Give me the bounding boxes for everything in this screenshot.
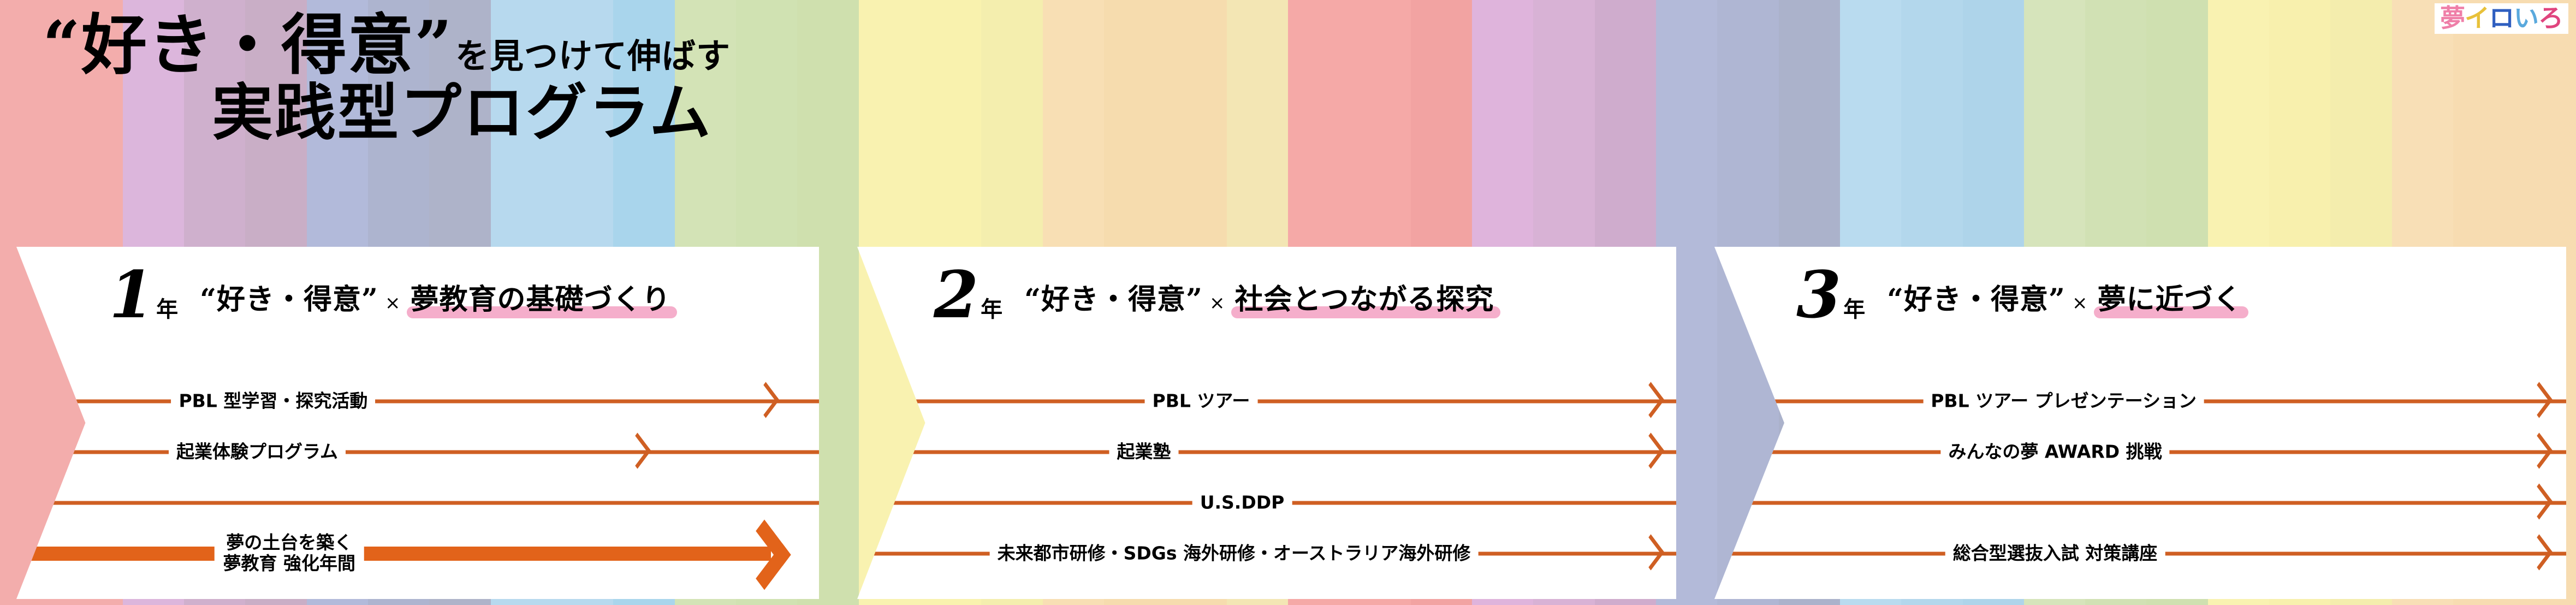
year-number: 1 [109,265,154,325]
program-label: 夢の土台を築く夢教育 強化年間 [215,531,365,576]
theme-highlight: 夢教育の基礎づくり [407,276,674,317]
program-label-line1: みんなの夢 AWARD 挑戦 [1948,441,2162,462]
timeline-track [857,399,1676,403]
theme-highlight: 社会とつながる探究 [1231,276,1497,317]
theme-quoted-phrase: “好き・得意” [200,276,378,317]
theme-quoted-phrase: “好き・得意” [1024,276,1203,317]
headline-suffix: を見つけて伸ばす [453,39,731,79]
program-row: U.S.DDP [857,477,1676,528]
year-panel-3: 3年“好き・得意”×夢に近づくPBL ツアー プレゼンテーションみんなの夢 AW… [1714,247,2566,599]
program-label: PBL 型学習・探究活動 [171,390,375,412]
program-label: 未来都市研修・SDGs 海外研修・オーストラリア海外研修 [990,543,1479,564]
infographic-root: 夢イロいろ “好き・得意” を見つけて伸ばす 実践型プログラム 1年“好き・得意… [0,0,2576,605]
program-label: PBL ツアー [1145,390,1258,412]
program-row: PBL ツアー プレゼンテーション [1714,376,2566,426]
program-label-line1: U.S.DDP [1200,491,1285,513]
program-label-line1: 起業体験プログラム [176,441,338,462]
program-rows: PBL 型学習・探究活動起業体験プログラム夢の土台を築く夢教育 強化年間 [16,376,819,579]
timeline-track [28,399,819,403]
year-panels: 1年“好き・得意”×夢教育の基礎づくりPBL 型学習・探究活動起業体験プログラム… [0,247,2576,599]
program-row: PBL ツアー [857,376,1676,426]
timeline-track [857,450,1676,454]
program-row: 夢の土台を築く夢教育 強化年間 [16,528,819,579]
program-label-line2: 夢教育 強化年間 [223,554,356,575]
year-theme: “好き・得意”×夢に近づく [1865,276,2245,325]
program-label: PBL ツアー プレゼンテーション [1923,390,2204,412]
brand-logo: 夢イロいろ [2435,3,2568,34]
headline-quoted-phrase: “好き・得意” [43,12,453,79]
year-header: 1年“好き・得意”×夢教育の基礎づくり [109,265,674,325]
times-symbol: × [378,292,407,317]
logo-char: い [2514,5,2538,31]
timeline-track [1714,501,2566,505]
program-label: 総合型選抜入試 対策講座 [1945,543,2165,564]
program-rows: PBL ツアー起業塾U.S.DDP未来都市研修・SDGs 海外研修・オーストラリ… [857,376,1676,579]
year-panel-1: 1年“好き・得意”×夢教育の基礎づくりPBL 型学習・探究活動起業体験プログラム… [16,247,819,599]
headline-line-2: 実践型プログラム [43,81,731,145]
program-label: みんなの夢 AWARD 挑戦 [1940,441,2169,462]
program-label-line1: 夢の土台を築く [226,532,352,553]
program-row: 起業塾 [857,426,1676,477]
timeline-track [16,547,771,561]
year-header: 3年“好き・得意”×夢に近づく [1796,265,2245,325]
program-row: 総合型選抜入試 対策講座 [1714,528,2566,579]
times-symbol: × [1203,292,1232,317]
theme-highlight: 夢に近づく [2094,276,2245,317]
program-label-line1: 総合型選抜入試 対策講座 [1953,542,2158,564]
program-row: 未来都市研修・SDGs 海外研修・オーストラリア海外研修 [857,528,1676,579]
program-row: 起業体験プログラム [16,426,819,477]
logo-char: イ [2465,5,2489,31]
year-number: 2 [934,265,978,325]
program-row [1714,477,2566,528]
program-label: 起業塾 [1109,441,1179,462]
year-panel-2: 2年“好き・得意”×社会とつながる探究PBL ツアー起業塾U.S.DDP未来都市… [857,247,1676,599]
year-suffix-label: 年 [978,299,1002,325]
program-label-line1: 未来都市研修・SDGs 海外研修・オーストラリア海外研修 [998,542,1471,564]
year-theme: “好き・得意”×社会とつながる探究 [1002,276,1497,325]
timeline-track [32,450,819,454]
program-row: PBL 型学習・探究活動 [16,376,819,426]
year-suffix-label: 年 [154,299,178,325]
logo-char: ろ [2538,5,2563,31]
year-number: 3 [1796,265,1841,325]
headline-line-1: “好き・得意” を見つけて伸ばす [43,12,731,79]
program-label-line1: PBL ツアー [1153,390,1250,411]
program-label-line1: PBL 型学習・探究活動 [179,390,367,411]
year-header: 2年“好き・得意”×社会とつながる探究 [934,265,1497,325]
program-label-line1: 起業塾 [1117,441,1171,462]
logo-char: 夢 [2440,5,2465,31]
year-suffix-label: 年 [1841,299,1865,325]
program-row: みんなの夢 AWARD 挑戦 [1714,426,2566,477]
theme-quoted-phrase: “好き・得意” [1887,276,2065,317]
program-label-line1: PBL ツアー プレゼンテーション [1931,390,2197,411]
program-label: 起業体験プログラム [169,441,346,462]
times-symbol: × [2065,292,2094,317]
program-rows: PBL ツアー プレゼンテーションみんなの夢 AWARD 挑戦総合型選抜入試 対… [1714,376,2566,579]
program-row [16,477,819,528]
year-theme: “好き・得意”×夢教育の基礎づくり [178,276,674,325]
program-label: U.S.DDP [1192,492,1292,513]
logo-char: ロ [2489,5,2514,31]
timeline-track [20,501,819,505]
page-title: “好き・得意” を見つけて伸ばす 実践型プログラム [43,12,731,145]
